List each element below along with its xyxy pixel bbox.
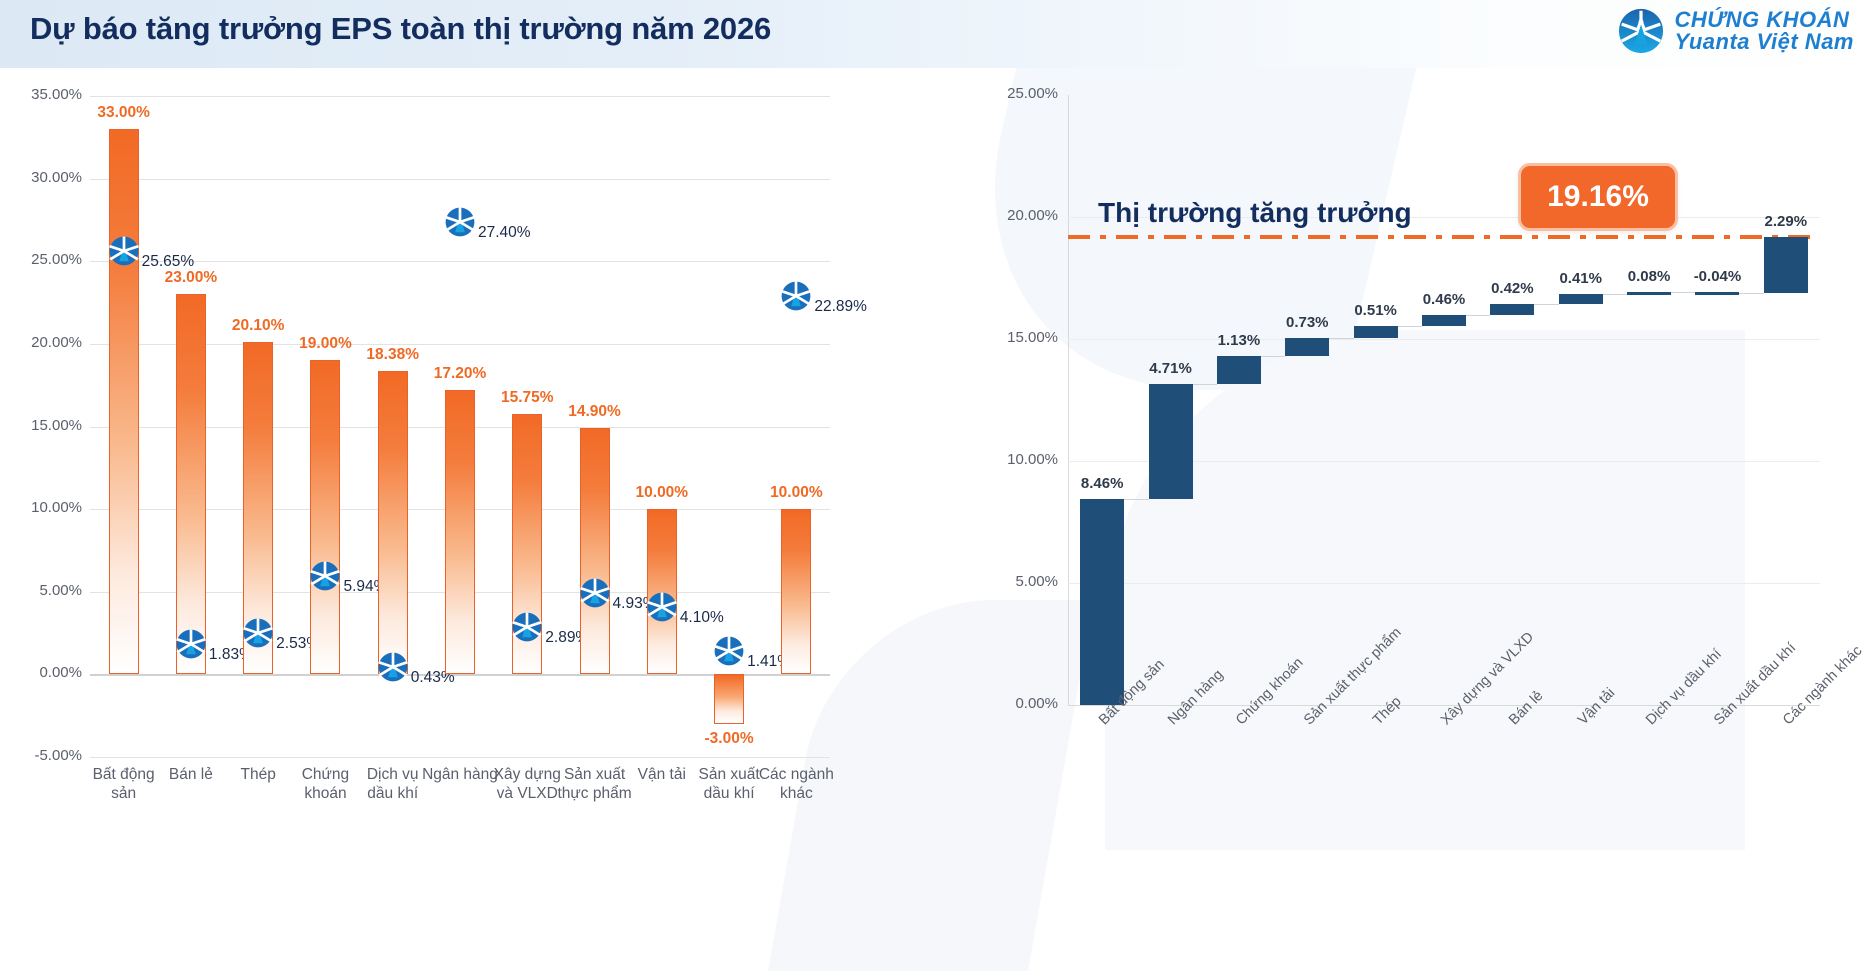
gridline [1068,339,1820,340]
waterfall-connector [1603,294,1627,295]
chart-eps-growth-by-sector: 33.00%25.65%23.00%1.83%20.10%2.53%19.00%… [0,68,940,971]
waterfall-value-label: -0.04% [1672,268,1762,285]
waterfall-bar[interactable] [1149,384,1193,499]
series-marker[interactable] [512,612,542,642]
waterfall-value-label: 4.71% [1126,360,1216,377]
series-marker[interactable] [445,207,475,237]
marker-value-label: 27.40% [478,224,531,242]
brand-logo-text: CHỨNG KHOÁN Yuanta Việt Nam [1675,9,1854,53]
yuanta-star-icon [1618,8,1664,54]
gridline [90,261,830,262]
x-axis-category-label: Chứng khoán [287,765,364,804]
y-axis-tick-label: 15.00% [4,417,82,434]
x-axis-category-label: Vận tải [623,765,700,784]
waterfall-bar[interactable] [1559,294,1603,304]
series-marker[interactable] [243,618,273,648]
waterfall-bar[interactable] [1422,315,1466,326]
series-marker[interactable] [378,652,408,682]
chart-market-growth-waterfall: 8.46%4.71%1.13%0.73%0.51%0.46%0.42%0.41%… [940,50,1876,971]
bar[interactable] [580,428,610,674]
waterfall-value-label: 1.13% [1194,332,1284,349]
bar[interactable] [310,360,340,674]
gridline [1068,583,1820,584]
bar[interactable] [781,509,811,674]
bar-value-label: 10.00% [607,484,717,502]
bar[interactable] [445,390,475,674]
waterfall-connector [1398,326,1422,327]
x-axis-category-label: Dịch vụ dầu khí [354,765,431,804]
y-axis-tick-label: 15.00% [972,329,1058,346]
waterfall-bar[interactable] [1490,304,1534,314]
y-axis-tick-label: 10.00% [4,499,82,516]
marker-value-label: 4.10% [680,609,724,627]
waterfall-bar[interactable] [1285,338,1329,356]
waterfall-bar[interactable] [1695,292,1739,295]
x-axis-category-label: Sản xuất thực phẩm [556,765,633,804]
brand-logo: CHỨNG KHOÁN Yuanta Việt Nam [1618,8,1854,54]
bar-value-label: 23.00% [136,269,246,287]
market-target-line [1068,235,1820,239]
series-marker[interactable] [714,636,744,666]
page-title: Dự báo tăng trưởng EPS toàn thị trường n… [30,11,771,47]
waterfall-connector [1193,384,1217,385]
marker-value-label: 25.65% [142,253,195,271]
yuanta-star-icon [445,207,475,237]
yuanta-star-icon [176,629,206,659]
yuanta-star-icon [580,578,610,608]
waterfall-bar[interactable] [1354,326,1398,338]
y-axis-tick-label: 20.00% [972,207,1058,224]
bar-value-label: 10.00% [741,484,851,502]
bar-value-label: 14.90% [540,403,650,421]
waterfall-connector [1466,315,1490,316]
waterfall-connector [1739,293,1763,294]
y-axis-tick-label: 10.00% [972,451,1058,468]
gridline [90,179,830,180]
waterfall-connector [1671,292,1695,293]
y-axis-tick-label: 35.00% [4,86,82,103]
series-marker[interactable] [310,561,340,591]
bar-value-label: 20.10% [203,317,313,335]
y-axis-tick-label: 25.00% [4,251,82,268]
bar-value-label: 33.00% [69,104,179,122]
slide-root: Dự báo tăng trưởng EPS toàn thị trường n… [0,0,1876,971]
y-axis-tick-label: 20.00% [4,334,82,351]
y-axis-tick-label: 5.00% [972,573,1058,590]
bar[interactable] [714,674,744,724]
waterfall-connector [1329,338,1353,339]
gridline [90,96,830,97]
x-axis-category-label: Bất động sản [85,765,162,804]
left-chart-plot-area: 33.00%25.65%23.00%1.83%20.10%2.53%19.00%… [90,96,830,757]
y-axis-tick-label: 25.00% [972,85,1058,102]
bar[interactable] [378,371,408,675]
yuanta-star-icon [243,618,273,648]
waterfall-bar[interactable] [1217,356,1261,384]
market-growth-badge: 19.16% [1518,163,1678,231]
waterfall-connector [1261,356,1285,357]
x-axis-category-label: Ngân hàng [421,765,498,784]
bar[interactable] [109,129,139,674]
y-axis-tick-label: -5.00% [4,747,82,764]
x-axis-category-label: Xây dựng và VLXD [489,765,566,804]
waterfall-value-label: 2.29% [1741,213,1831,230]
series-marker[interactable] [580,578,610,608]
waterfall-bar[interactable] [1627,292,1671,295]
waterfall-connector [1124,499,1148,500]
y-axis-line [1068,95,1069,705]
right-chart-plot-area: 8.46%4.71%1.13%0.73%0.51%0.46%0.42%0.41%… [1068,95,1820,705]
gridline [90,757,830,758]
yuanta-star-icon [714,636,744,666]
bar[interactable] [176,294,206,674]
waterfall-value-label: 8.46% [1057,475,1147,492]
bar-value-label: 17.20% [405,365,515,383]
series-marker[interactable] [647,592,677,622]
x-axis-category-label: Thép [220,765,297,784]
y-axis-tick-label: 30.00% [4,169,82,186]
y-axis-tick-label: 5.00% [4,582,82,599]
yuanta-star-icon [647,592,677,622]
market-growth-annotation: Thị trường tăng trưởng [1098,197,1412,229]
series-marker[interactable] [781,281,811,311]
yuanta-star-icon [512,612,542,642]
bar-value-label: 18.38% [338,346,448,364]
y-axis-tick-label: 0.00% [972,695,1058,712]
series-marker[interactable] [176,629,206,659]
brand-line-1: CHỨNG KHOÁN [1675,9,1854,31]
series-marker[interactable] [109,236,139,266]
marker-value-label: 22.89% [814,298,867,316]
x-axis-category-label: Bán lẻ [152,765,229,784]
waterfall-bar[interactable] [1764,237,1808,293]
bar-value-label: -3.00% [674,730,784,748]
yuanta-star-icon [781,281,811,311]
y-axis-tick-label: 0.00% [4,664,82,681]
waterfall-bar[interactable] [1080,499,1124,705]
x-axis-category-label: Các ngành khác [758,765,835,804]
waterfall-connector [1534,304,1558,305]
x-axis-category-label: Sản xuất dầu khí [690,765,767,804]
yuanta-star-icon [109,236,139,266]
yuanta-star-icon [378,652,408,682]
yuanta-star-icon [310,561,340,591]
